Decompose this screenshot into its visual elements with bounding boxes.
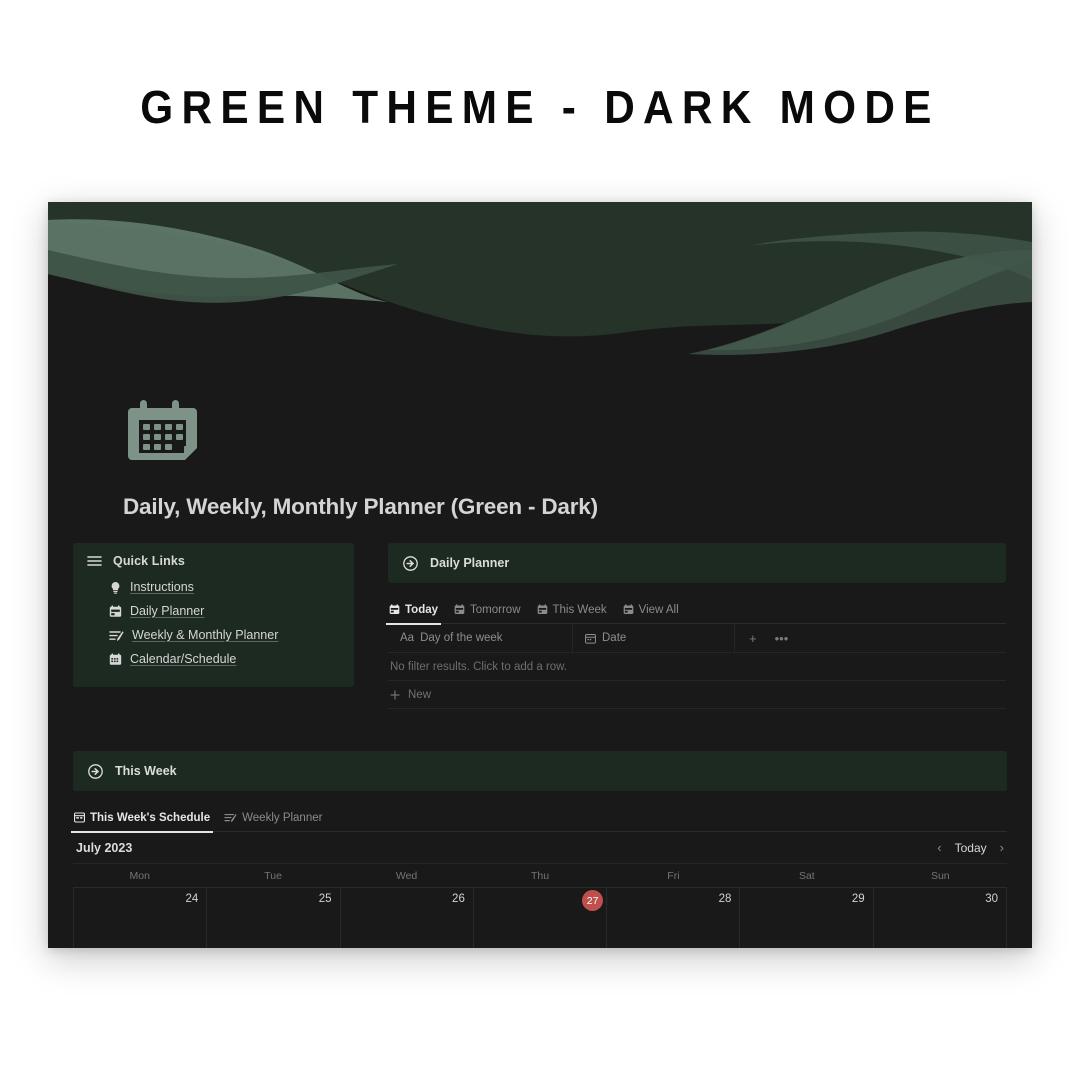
quick-links-title: Quick Links [113,554,185,568]
weekday-label: Thu [473,864,606,887]
quick-link-label: Weekly & Monthly Planner [132,628,278,642]
weekday-label: Wed [340,864,473,887]
calendar-weekday-header: Mon Tue Wed Thu Fri Sat Sun [73,863,1007,887]
quick-link-weekly-monthly-planner[interactable]: Weekly & Monthly Planner [109,623,340,647]
daily-planner-link-label: Daily Planner [430,556,509,570]
table-header-actions: + ••• [735,631,788,646]
calendar-today-badge: 27 [582,890,603,911]
calendar-week-grid: 24 25 26 27 28 29 30 [73,887,1007,948]
calendar-day-cell[interactable]: 29 [740,888,873,948]
tab-view-all[interactable]: View All [623,596,679,624]
banner-waves-graphic [48,202,1032,360]
text-type-icon: Aa [400,632,414,644]
calendar-day-cell[interactable]: 30 [874,888,1007,948]
calendar-day-number: 26 [452,893,465,905]
calendar-nav: ‹ Today › [937,840,1004,855]
calendar-day-icon [109,605,122,618]
column-label: Day of the week [420,632,502,644]
quick-link-instructions[interactable]: Instructions [109,575,340,599]
tab-label: Weekly Planner [242,812,322,824]
daily-planner-link-callout[interactable]: Daily Planner [388,543,1006,583]
app-window: Daily, Weekly, Monthly Planner (Green - … [48,202,1032,948]
daily-planner-view-tabs: Today Tomorrow [388,596,1006,624]
weekday-label: Fri [607,864,740,887]
plus-icon [390,690,400,700]
calendar-toolbar: July 2023 ‹ Today › [73,832,1007,863]
daily-planner-column: Daily Planner Tod [388,543,1006,709]
this-week-link-callout[interactable]: This Week [73,751,1007,791]
calendar-day-cell-today[interactable]: 27 [474,888,607,948]
quick-links-list: Instructions [87,575,340,671]
table-empty-message[interactable]: No filter results. Click to add a row. [388,653,1006,681]
content-columns: Quick Links Instructions [48,543,1032,709]
this-week-link-label: This Week [115,764,177,778]
calendar-day-cell[interactable]: 25 [207,888,340,948]
lightbulb-icon [109,581,122,594]
calendar-grid-icon [109,653,122,666]
calendar-day-cell[interactable]: 28 [607,888,740,948]
weekday-label: Tue [206,864,339,887]
calendar-day-number: 25 [319,893,332,905]
page-title: GREEN THEME - DARK MODE [43,80,1037,134]
quick-links-column: Quick Links Instructions [73,543,354,687]
quick-link-label: Calendar/Schedule [130,652,236,666]
date-icon [585,633,596,644]
calendar-day-number: 30 [985,893,998,905]
weekday-label: Sat [740,864,873,887]
hamburger-icon [87,555,102,567]
tab-this-week[interactable]: This Week [537,596,607,624]
tab-label: This Week's Schedule [90,812,210,824]
today-button[interactable]: Today [955,841,987,855]
calendar-icon [389,604,400,615]
calendar-day-number: 28 [719,893,732,905]
quick-links-callout: Quick Links Instructions [73,543,354,687]
calendar-month-label: July 2023 [76,841,132,855]
quick-link-calendar-schedule[interactable]: Calendar/Schedule [109,647,340,671]
tab-tomorrow[interactable]: Tomorrow [454,596,520,624]
calendar-day-number: 24 [185,893,198,905]
new-row-label: New [408,689,431,701]
column-date[interactable]: Date [573,624,735,653]
this-week-view-tabs: This Week's Schedule Weekly [73,804,1007,832]
list-pen-icon [109,629,124,642]
arrow-right-circle-icon [403,556,418,571]
table-header-row: Aa Day of the week Date [388,624,1006,653]
weekday-label: Sun [874,864,1007,887]
tab-this-weeks-schedule[interactable]: This Week's Schedule [74,804,210,832]
quick-links-header: Quick Links [87,554,340,568]
list-pen-icon [224,812,237,823]
cover-banner [48,202,1032,360]
chevron-right-icon[interactable]: › [1000,840,1004,855]
this-week-section: This Week This Week's Schedule [73,751,1007,948]
quick-link-daily-planner[interactable]: Daily Planner [109,599,340,623]
ellipsis-icon[interactable]: ••• [775,631,789,646]
tab-weekly-planner[interactable]: Weekly Planner [224,804,322,832]
tab-label: View All [639,604,679,616]
calendar-day-cell[interactable]: 24 [74,888,207,948]
calendar-day-cell[interactable]: 26 [341,888,474,948]
column-label: Date [602,632,626,644]
plus-icon[interactable]: + [749,631,757,646]
quick-link-label: Instructions [130,580,194,594]
calendar-icon [126,388,204,466]
tab-label: Tomorrow [470,604,520,616]
tab-label: Today [405,604,438,616]
table-new-row-button[interactable]: New [388,681,1006,709]
calendar-icon [454,604,465,615]
tab-label: This Week [553,604,607,616]
calendar-icon [623,604,634,615]
chevron-left-icon[interactable]: ‹ [937,840,941,855]
weekday-label: Mon [73,864,206,887]
quick-link-label: Daily Planner [130,604,204,618]
column-day-of-the-week[interactable]: Aa Day of the week [388,624,573,653]
calendar-icon [537,604,548,615]
planner-page-title: Daily, Weekly, Monthly Planner (Green - … [123,494,1032,520]
tab-today[interactable]: Today [389,596,438,624]
calendar-day-number: 29 [852,893,865,905]
calendar-board-icon [74,812,85,823]
arrow-right-circle-icon [88,764,103,779]
